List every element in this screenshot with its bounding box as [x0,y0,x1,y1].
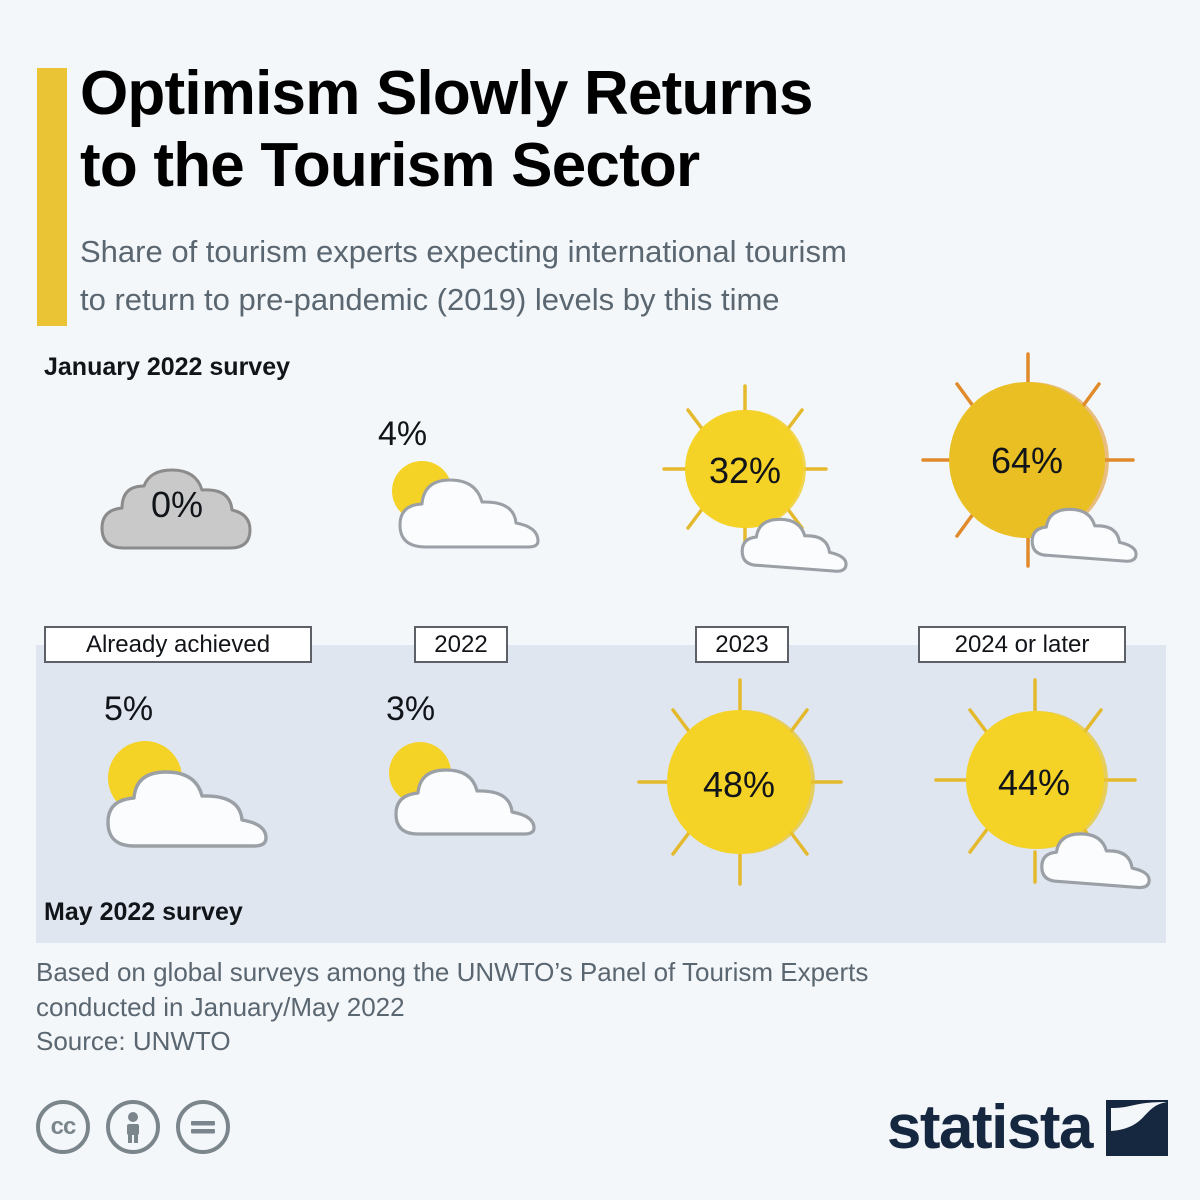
sun-behind-cloud-icon [92,728,282,858]
license-badges: cc [36,1100,230,1154]
header: Optimism Slowly Returns to the Tourism S… [0,0,1200,340]
statista-mark-icon [1106,1100,1168,1156]
january-survey-label: January 2022 survey [44,353,290,382]
value-label-may-2024-or-later: 44% [925,762,1143,804]
page-title: Optimism Slowly Returns to the Tourism S… [80,58,1160,202]
accent-bar [37,68,67,326]
value-label-may-already-achieved: 5% [104,690,224,729]
cc-by-person-icon[interactable] [106,1100,160,1154]
person-glyph [122,1111,144,1143]
value-label-jan-2023: 32% [645,450,845,492]
value-label-jan-already-achieved: 0% [92,484,262,526]
cc-label: cc [51,1115,76,1139]
footnote: Based on global surveys among the UNWTO’… [36,955,1116,1059]
statista-logo[interactable]: statista [887,1097,1168,1159]
value-label-jan-2024-or-later: 64% [903,440,1151,482]
jan-2023-cell: 32% [645,372,855,582]
cc-nd-equals-icon[interactable] [176,1100,230,1154]
jan-2024-or-later-cell: 64% [903,340,1163,615]
equals-glyph [190,1119,216,1135]
sun-behind-cloud-icon [378,447,568,562]
may-2024-or-later-cell: 44% [925,672,1157,917]
may-survey-label: May 2022 survey [44,898,243,927]
may-2023-cell: 48% [625,672,857,917]
value-label-may-2022: 3% [386,690,506,729]
statista-wordmark: statista [887,1097,1092,1159]
category-label-2024-or-later: 2024 or later [918,626,1126,663]
category-label-already-achieved: Already achieved [44,626,312,663]
category-label-2022: 2022 [414,626,508,663]
category-label-2023: 2023 [695,626,789,663]
jan-already-achieved-cell: 0% [92,448,262,558]
sun-behind-cloud-icon [378,728,553,848]
cc-icon[interactable]: cc [36,1100,90,1154]
value-label-may-2023: 48% [625,764,853,806]
page-subtitle: Share of tourism experts expecting inter… [80,228,1170,325]
